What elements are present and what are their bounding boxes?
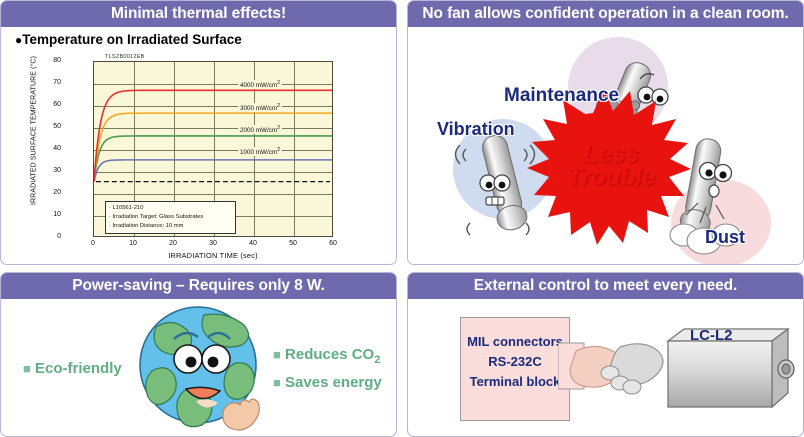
- panel-external-control: External control to meet every need. MIL…: [407, 272, 804, 437]
- chart-x-axis-label: IRRADIATION TIME (sec): [93, 251, 333, 260]
- series-label-1000: 1000 mW/cm2: [238, 147, 282, 156]
- chart-code-label: TLSZB0012EB: [105, 54, 145, 60]
- x-tick-10: 10: [120, 240, 146, 247]
- panel-body-control: MIL connectors RS-232C Terminal block: [408, 299, 803, 436]
- x-tick-20: 20: [160, 240, 186, 247]
- panel-body-power: ■ Eco-friendly ■ Reduces CO2 ■ Saves ene…: [1, 299, 396, 436]
- annotation-line-2: · Irradiation Target: Glass Substrates: [109, 213, 232, 222]
- y-tick-80: 80: [21, 57, 61, 64]
- panel-power-saving: Power-saving – Requires only 8 W.: [0, 272, 397, 437]
- annotation-line-3: · Irradiation Distance: 10 mm: [109, 222, 232, 231]
- chart-title-text: Temperature on Irradiated Surface: [22, 32, 242, 47]
- eco-bullet-left: ■ Eco-friendly: [23, 360, 122, 377]
- series-label-2000: 2000 mW/cm2: [238, 125, 282, 134]
- reduces-co2-label: Reduces CO: [285, 346, 374, 363]
- eco-friendly-label: Eco-friendly: [35, 360, 122, 377]
- chart-title: ●Temperature on Irradiated Surface: [15, 32, 242, 47]
- burst-line-2: Trouble: [527, 166, 695, 189]
- x-tick-40: 40: [240, 240, 266, 247]
- y-tick-60: 60: [21, 101, 61, 108]
- y-tick-40: 40: [21, 145, 61, 152]
- y-tick-0: 0: [21, 233, 61, 240]
- panel-minimal-thermal-effects: Minimal thermal effects! ●Temperature on…: [0, 0, 397, 265]
- series-label-3000: 3000 mW/cm2: [238, 103, 282, 112]
- bullet-square-icon: ■: [273, 375, 281, 390]
- device-label-lc-l2: LC-L2: [690, 327, 733, 344]
- panel-clean-room: No fan allows confident operation in a c…: [407, 0, 804, 265]
- curve-1000: [94, 160, 332, 182]
- eco-bullet-reduces-co2: ■ Reduces CO2: [273, 346, 380, 366]
- interface-line-1: MIL connectors: [461, 332, 569, 352]
- handshake-and-device: [558, 321, 798, 431]
- x-tick-0: 0: [80, 240, 106, 247]
- series-label-4000: 4000 mW/cm2: [238, 80, 282, 89]
- co2-subscript: 2: [374, 354, 380, 366]
- y-tick-70: 70: [21, 79, 61, 86]
- chart-annotation-box: · L10561-210 · Irradiation Target: Glass…: [105, 201, 236, 234]
- panel-header-cleanroom: No fan allows confident operation in a c…: [408, 1, 803, 27]
- panel-body-thermal: ●Temperature on Irradiated Surface TLSZB…: [1, 27, 396, 264]
- burst-text: Less Trouble: [527, 143, 695, 189]
- panel-header-power: Power-saving – Requires only 8 W.: [1, 273, 396, 299]
- bullet-square-icon: ■: [23, 361, 31, 376]
- label-dust: Dust: [705, 227, 745, 248]
- x-tick-60: 60: [320, 240, 346, 247]
- brochure-page: Minimal thermal effects! ●Temperature on…: [0, 0, 804, 437]
- y-tick-10: 10: [21, 211, 61, 218]
- y-tick-20: 20: [21, 189, 61, 196]
- panel-header-thermal: Minimal thermal effects!: [1, 1, 396, 27]
- saves-energy-label: Saves energy: [285, 374, 382, 391]
- interface-line-3: Terminal block: [461, 372, 569, 392]
- earth-character: [138, 305, 264, 431]
- eco-bullet-saves-energy: ■ Saves energy: [273, 374, 382, 391]
- y-tick-50: 50: [21, 123, 61, 130]
- x-tick-50: 50: [280, 240, 306, 247]
- label-maintenance: Maintenance: [504, 85, 619, 107]
- interface-line-2: RS-232C: [461, 352, 569, 372]
- annotation-line-1: · L10561-210: [109, 204, 232, 213]
- panel-header-control: External control to meet every need.: [408, 273, 803, 299]
- chart-y-axis-label: IRRADIATED SURFACE TEMPERATURE (°C): [31, 36, 38, 226]
- less-trouble-burst: Less Trouble: [527, 113, 695, 245]
- label-vibration: Vibration: [437, 119, 515, 140]
- panel-body-cleanroom: Less Trouble Maintenance Vibration Dust: [408, 27, 803, 264]
- interfaces-box: MIL connectors RS-232C Terminal block: [460, 317, 570, 421]
- curve-2000: [94, 136, 332, 182]
- y-tick-30: 30: [21, 167, 61, 174]
- x-tick-30: 30: [200, 240, 226, 247]
- curve-3000: [94, 113, 332, 182]
- bullet-square-icon: ■: [273, 347, 281, 362]
